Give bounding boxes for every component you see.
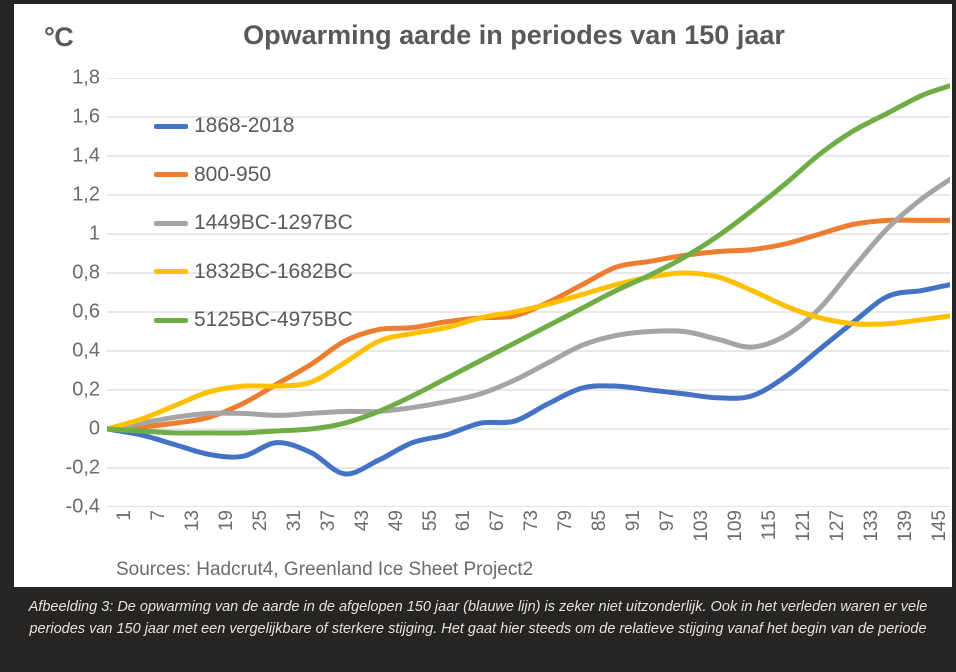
y-tick-label: 0 [38, 418, 100, 441]
x-tick-label: 7 [148, 510, 170, 521]
legend-item[interactable]: 1832BC-1682BC [154, 248, 454, 297]
y-tick-label: 1,4 [38, 145, 100, 168]
y-tick-label: 0,2 [38, 379, 100, 402]
y-tick-label: 1,6 [38, 106, 100, 129]
chart-legend: 1868-2018800-9501449BC-1297BC1832BC-1682… [154, 102, 454, 345]
legend-color-swatch [154, 269, 188, 274]
legend-item-label: 1449BC-1297BC [194, 211, 353, 235]
x-tick-label: 85 [589, 510, 611, 531]
legend-color-swatch [154, 124, 188, 129]
chart-title: Opwarming aarde in periodes van 150 jaar [104, 20, 924, 51]
x-tick-label: 127 [827, 510, 849, 542]
x-axis-tick-labels: 1713192531374349556167737985919710310911… [107, 510, 950, 562]
x-tick-label: 97 [657, 510, 679, 531]
x-tick-label: 1 [114, 510, 136, 521]
figure-caption: Afbeelding 3: De opwarming van de aarde … [20, 596, 936, 641]
legend-item-label: 1868-2018 [194, 114, 294, 138]
chart-panel: °C Opwarming aarde in periodes van 150 j… [14, 4, 952, 587]
x-tick-label: 49 [386, 510, 408, 531]
x-tick-label: 13 [182, 510, 204, 531]
x-tick-label: 73 [521, 510, 543, 531]
x-tick-label: 31 [284, 510, 306, 531]
sources-note: Sources: Hadcrut4, Greenland Ice Sheet P… [116, 559, 533, 581]
x-tick-label: 25 [250, 510, 272, 531]
y-axis-tick-labels: 1,81,61,41,210,80,60,40,20-0,2-0,4 [28, 78, 100, 507]
legend-item[interactable]: 5125BC-4975BC [154, 296, 454, 345]
legend-color-swatch [154, 318, 188, 323]
legend-item[interactable]: 800-950 [154, 151, 454, 200]
x-tick-label: 115 [759, 510, 781, 540]
x-tick-label: 43 [352, 510, 374, 531]
x-tick-label: 139 [895, 510, 917, 542]
x-tick-label: 91 [623, 510, 645, 531]
legend-color-swatch [154, 221, 188, 226]
legend-item-label: 5125BC-4975BC [194, 308, 353, 332]
x-tick-label: 109 [725, 510, 747, 542]
y-tick-label: 1 [38, 223, 100, 246]
y-tick-label: 0,6 [38, 301, 100, 324]
legend-item[interactable]: 1868-2018 [154, 102, 454, 151]
legend-item-label: 800-950 [194, 163, 271, 187]
x-tick-label: 55 [420, 510, 442, 531]
x-tick-label: 67 [487, 510, 509, 531]
figure-root: °C Opwarming aarde in periodes van 150 j… [0, 0, 956, 672]
x-tick-label: 61 [453, 510, 475, 531]
legend-item-label: 1832BC-1682BC [194, 260, 353, 284]
x-tick-label: 145 [929, 510, 951, 542]
y-tick-label: 0,4 [38, 340, 100, 363]
legend-item[interactable]: 1449BC-1297BC [154, 199, 454, 248]
x-tick-label: 79 [555, 510, 577, 531]
y-tick-label: -0,2 [38, 457, 100, 480]
legend-color-swatch [154, 172, 188, 177]
y-tick-label: 1,2 [38, 184, 100, 207]
y-tick-label: 1,8 [38, 67, 100, 90]
y-tick-label: 0,8 [38, 262, 100, 285]
y-tick-label: -0,4 [38, 496, 100, 519]
x-tick-label: 19 [216, 510, 238, 531]
x-tick-label: 103 [691, 510, 713, 542]
x-tick-label: 121 [793, 510, 815, 542]
x-tick-label: 133 [861, 510, 883, 542]
y-axis-unit-label: °C [44, 22, 73, 53]
x-tick-label: 37 [318, 510, 340, 531]
